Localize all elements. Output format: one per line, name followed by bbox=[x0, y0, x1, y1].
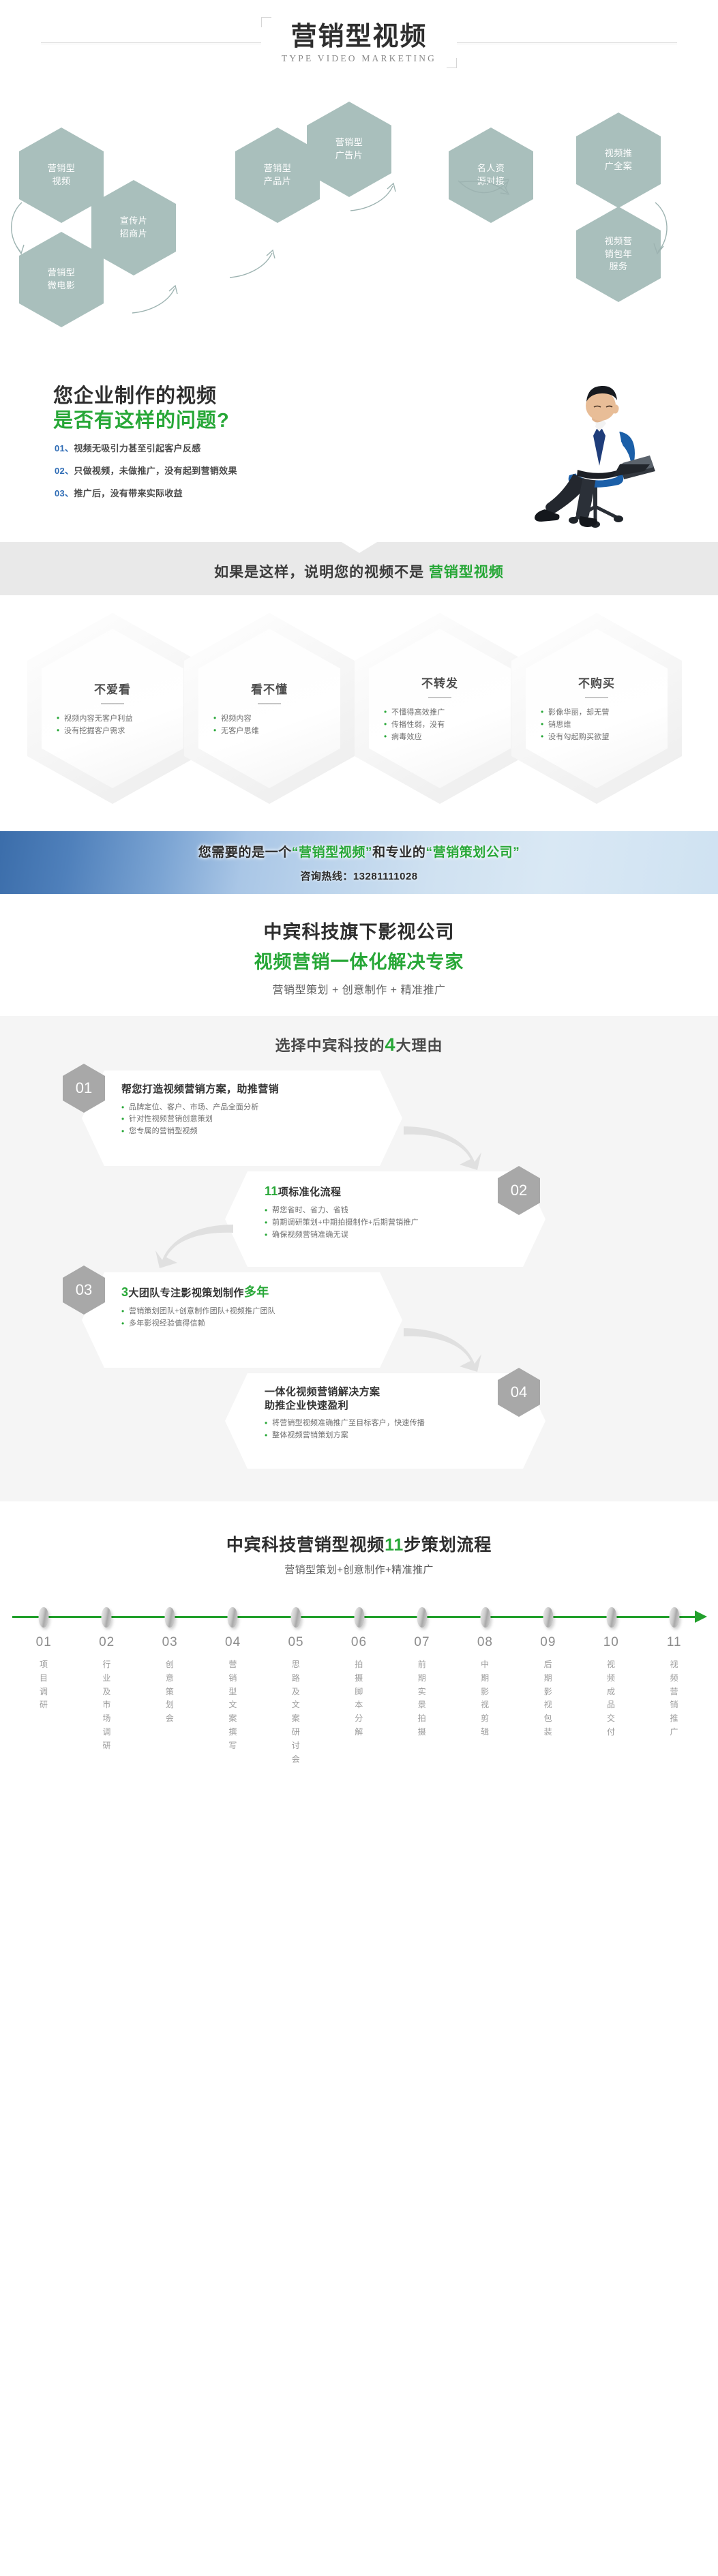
hex-service-6[interactable]: 视频推广全案 bbox=[576, 113, 661, 208]
problem-card-bullet: 无客户思维 bbox=[213, 725, 259, 737]
step-number: 09 bbox=[517, 1635, 580, 1650]
reason-title-text: 帮您打造视频营销方案，助推营销 bbox=[121, 1083, 279, 1095]
reason-row-03: 3大团队专注影视策划制作多年 营销策划团队+创意制作团队+视频推广团队 多年影视… bbox=[0, 1272, 718, 1373]
reason-title-number: 11 bbox=[265, 1184, 278, 1198]
timeline-step-06[interactable]: 06 拍摄脚本分解 bbox=[327, 1635, 390, 1766]
problem-card-bullet: 不懂得高效推广 bbox=[384, 706, 445, 719]
step-number: 07 bbox=[391, 1635, 453, 1650]
hex-line: 广告片 bbox=[335, 149, 363, 162]
marketing-landing-page: 营销型视频 TYPE VIDEO MARKETING 营销型视频 宣传片招商片 … bbox=[0, 0, 718, 1789]
step-number: 03 bbox=[138, 1635, 201, 1650]
step-label: 创意策划会 bbox=[138, 1658, 201, 1726]
problem-card-bullet: 影像华丽，却无营 bbox=[541, 706, 610, 719]
problem-list-item: 03、推广后，没有带来实际收益 bbox=[55, 486, 237, 499]
hex-line: 销包年 bbox=[605, 248, 633, 261]
hex-line: 营销型 bbox=[335, 136, 363, 149]
problem-card-title: 不购买 bbox=[578, 674, 615, 691]
reason-bullet: 营销策划团队+创意制作团队+视频推广团队 bbox=[121, 1306, 363, 1318]
problem-item-text: 推广后，没有带来实际收益 bbox=[74, 488, 183, 498]
problem-card-2[interactable]: 不转发 不懂得高效推广 传播性弱，没有 病毒效应 bbox=[355, 613, 525, 804]
company-headline-section: 中宾科技旗下影视公司 视频营销一体化解决专家 营销型策划 + 创意制作 + 精准… bbox=[0, 894, 718, 1016]
timeline-node bbox=[164, 1607, 175, 1628]
problem-card-title: 看不懂 bbox=[251, 680, 288, 697]
company-services-line: 营销型策划 + 创意制作 + 精准推广 bbox=[0, 980, 718, 997]
cta-blue-banner: 您需要的是一个“营销型视频”和专业的“营销策划公司” 咨询热线：13281111… bbox=[0, 831, 718, 894]
flow-arrow-icon bbox=[130, 283, 184, 317]
hex-line: 视频推 bbox=[605, 147, 633, 160]
timeline-node bbox=[543, 1607, 554, 1628]
cta-text-a: 您需要的是一个 bbox=[198, 845, 292, 860]
timeline-step-05[interactable]: 05 思路及文案研讨会 bbox=[265, 1635, 327, 1766]
reason-card-03[interactable]: 3大团队专注影视策划制作多年 营销策划团队+创意制作团队+视频推广团队 多年影视… bbox=[82, 1272, 402, 1368]
problem-heading-line2: 是否有这样的问题? bbox=[53, 404, 230, 433]
title-underline bbox=[585, 697, 608, 698]
header-title-box: 营销型视频 TYPE VIDEO MARKETING bbox=[261, 17, 457, 68]
reasons-title: 选择中宾科技的4大理由 bbox=[0, 1034, 718, 1055]
hex-line: 营销型 bbox=[48, 267, 76, 280]
problem-card-1[interactable]: 看不懂 视频内容 无客户思维 bbox=[184, 613, 355, 804]
step-label: 前期实景拍摄 bbox=[391, 1658, 453, 1739]
timeline-step-07[interactable]: 07 前期实景拍摄 bbox=[391, 1635, 453, 1766]
service-hex-grid: 营销型视频 宣传片招商片 营销型微电影 营销型产品片 营销型广告片 名人资源对接… bbox=[0, 85, 718, 365]
timeline-steps: 01 项目调研 02 行业及市场调研 03 创意策划会 04 营销型文案撰写 0… bbox=[12, 1635, 706, 1766]
step-number: 05 bbox=[265, 1635, 327, 1650]
reason-curve-arrow-icon bbox=[154, 1220, 236, 1271]
step-number: 11 bbox=[643, 1635, 706, 1650]
reason-bullet: 确保视频营销准确无误 bbox=[265, 1229, 506, 1242]
step-number: 08 bbox=[453, 1635, 516, 1650]
step-label: 项目调研 bbox=[12, 1658, 75, 1712]
cta-highlight-video: “营销型视频” bbox=[292, 845, 372, 860]
hex-service-7[interactable]: 视频营销包年服务 bbox=[576, 207, 661, 302]
reason-row-04: 一体化视频营销解决方案 助推企业快速盈利 将营销型视频准确推广至目标客户，快速传… bbox=[0, 1373, 718, 1474]
grey-banner-prefix: 如果是这样，说明您的视频不是 bbox=[214, 565, 429, 580]
hex-service-1[interactable]: 宣传片招商片 bbox=[91, 180, 176, 275]
reason-row-02: 11项标准化流程 帮您省时、省力、省钱 前期调研策划+中期拍摄制作+后期营销推广… bbox=[0, 1171, 718, 1272]
reason-card-title: 一体化视频营销解决方案 助推企业快速盈利 bbox=[265, 1386, 506, 1412]
timeline-step-03[interactable]: 03 创意策划会 bbox=[138, 1635, 201, 1766]
timeline-node bbox=[38, 1607, 48, 1628]
reason-bullet: 您专属的营销型视频 bbox=[121, 1126, 363, 1138]
reason-title-suffix: 多年 bbox=[244, 1285, 269, 1299]
page-header: 营销型视频 TYPE VIDEO MARKETING bbox=[0, 0, 718, 85]
timeline-step-04[interactable]: 04 营销型文案撰写 bbox=[201, 1635, 264, 1766]
hex-line: 宣传片 bbox=[120, 215, 148, 228]
title-underline bbox=[258, 703, 281, 704]
step-label: 营销型文案撰写 bbox=[201, 1658, 264, 1753]
hex-service-5[interactable]: 名人资源对接 bbox=[449, 128, 533, 223]
problem-card-bullet: 视频内容无客户利益 bbox=[57, 713, 133, 725]
timeline-title-number: 11 bbox=[385, 1536, 404, 1555]
step-number: 02 bbox=[75, 1635, 138, 1650]
timeline-node bbox=[670, 1607, 680, 1628]
problem-item-number: 01、 bbox=[55, 443, 74, 453]
step-number: 06 bbox=[327, 1635, 390, 1650]
problem-card-0[interactable]: 不爱看 视频内容无客户利益 没有挖掘客户需求 bbox=[27, 613, 198, 804]
reason-curve-arrow-icon bbox=[401, 1324, 483, 1375]
reason-card-04[interactable]: 一体化视频营销解决方案 助推企业快速盈利 将营销型视频准确推广至目标客户，快速传… bbox=[225, 1373, 545, 1469]
problem-card-title: 不转发 bbox=[421, 674, 458, 691]
problem-card-3[interactable]: 不购买 影像华丽，却无营 销思维 没有勾起购买欲望 bbox=[511, 613, 682, 804]
cta-highlight-company: “营销策划公司” bbox=[426, 845, 520, 860]
hex-line: 广全案 bbox=[605, 160, 633, 173]
cta-hotline[interactable]: 咨询热线：13281111028 bbox=[300, 869, 417, 883]
hex-line: 产品片 bbox=[264, 175, 292, 188]
timeline-axis bbox=[12, 1605, 706, 1628]
company-name-line: 中宾科技旗下影视公司 bbox=[0, 917, 718, 944]
step-label: 行业及市场调研 bbox=[75, 1658, 138, 1753]
timeline-step-01[interactable]: 01 项目调研 bbox=[12, 1635, 75, 1766]
page-subtitle-en: TYPE VIDEO MARKETING bbox=[282, 53, 436, 64]
problem-item-number: 02、 bbox=[55, 466, 74, 476]
cta-banner-line1: 您需要的是一个“营销型视频”和专业的“营销策划公司” bbox=[198, 842, 520, 860]
hex-line: 微电影 bbox=[48, 280, 76, 293]
step-number: 04 bbox=[201, 1635, 264, 1650]
reasons-title-a: 选择中宾科技的 bbox=[275, 1037, 385, 1054]
reason-card-02[interactable]: 11项标准化流程 帮您省时、省力、省钱 前期调研策划+中期拍摄制作+后期营销推广… bbox=[225, 1171, 545, 1267]
timeline-arrow-icon bbox=[695, 1611, 707, 1623]
step-label: 拍摄脚本分解 bbox=[327, 1658, 390, 1739]
timeline-node bbox=[228, 1607, 238, 1628]
timeline-step-09[interactable]: 09 后期影视包装 bbox=[517, 1635, 580, 1766]
problem-item-text: 只做视频，未做推广，没有起到营销效果 bbox=[74, 466, 237, 476]
reason-card-title: 11项标准化流程 bbox=[265, 1184, 506, 1199]
grey-statement-banner: 如果是这样，说明您的视频不是 营销型视频 bbox=[0, 542, 718, 595]
problem-item-text: 视频无吸引力甚至引起客户反感 bbox=[74, 443, 200, 453]
step-label: 中期影视剪辑 bbox=[453, 1658, 516, 1739]
reason-bullet: 整体视频营销策划方案 bbox=[265, 1430, 506, 1442]
timeline-step-08[interactable]: 08 中期影视剪辑 bbox=[453, 1635, 516, 1766]
step-number: 01 bbox=[12, 1635, 75, 1650]
timeline-title-a: 中宾科技营销型视频 bbox=[226, 1536, 385, 1555]
timeline-title-b: 步策划流程 bbox=[404, 1536, 492, 1555]
grey-banner-highlight: 营销型视频 bbox=[429, 565, 504, 580]
step-number: 10 bbox=[580, 1635, 642, 1650]
title-underline bbox=[428, 697, 451, 698]
cta-text-c: 和专业的 bbox=[372, 845, 425, 860]
grey-banner-text: 如果是这样，说明您的视频不是 营销型视频 bbox=[214, 561, 504, 582]
timeline-step-11[interactable]: 11 视频营销推广 bbox=[643, 1635, 706, 1766]
hex-line: 名人资 bbox=[477, 162, 505, 175]
timeline-subtitle: 营销型策划+创意制作+精准推广 bbox=[0, 1562, 718, 1576]
timeline-title: 中宾科技营销型视频11步策划流程 bbox=[0, 1531, 718, 1556]
reason-card-title: 3大团队专注影视策划制作多年 bbox=[121, 1285, 363, 1300]
reason-bullet: 针对性视频营销创意策划 bbox=[121, 1113, 363, 1126]
step-label: 后期影视包装 bbox=[517, 1658, 580, 1739]
reasons-title-b: 大理由 bbox=[396, 1037, 443, 1054]
timeline-node bbox=[417, 1607, 428, 1628]
hex-line: 服务 bbox=[605, 260, 633, 273]
timeline-node bbox=[290, 1607, 301, 1628]
hex-line: 营销型 bbox=[48, 162, 76, 175]
reason-title-number: 3 bbox=[121, 1285, 128, 1299]
timeline-step-10[interactable]: 10 视频成品交付 bbox=[580, 1635, 642, 1766]
timeline-node bbox=[354, 1607, 364, 1628]
reason-curve-arrow-icon bbox=[401, 1122, 483, 1173]
step-label: 视频成品交付 bbox=[580, 1658, 642, 1739]
hex-line: 视频营 bbox=[605, 235, 633, 248]
timeline-node bbox=[606, 1607, 616, 1628]
timeline-node bbox=[480, 1607, 490, 1628]
reason-card-01[interactable]: 帮您打造视频营销方案，助推营销 品牌定位、客户、市场、产品全面分析 针对性视频营… bbox=[82, 1070, 402, 1166]
problem-item-number: 03、 bbox=[55, 488, 74, 498]
problem-card-bullet: 视频内容 bbox=[213, 713, 252, 725]
reason-row-01: 帮您打造视频营销方案，助推营销 品牌定位、客户、市场、产品全面分析 针对性视频营… bbox=[0, 1070, 718, 1171]
problem-card-inner: 看不懂 视频内容 无客户思维 bbox=[198, 629, 340, 788]
hex-service-0[interactable]: 营销型视频 bbox=[19, 128, 104, 223]
timeline-node bbox=[102, 1607, 112, 1628]
flow-arrow-icon bbox=[227, 248, 282, 282]
step-label: 视频营销推广 bbox=[643, 1658, 706, 1739]
problem-card-inner: 不转发 不懂得高效推广 传播性弱，没有 病毒效应 bbox=[369, 629, 511, 788]
timeline-section: 中宾科技营销型视频11步策划流程 营销型策划+创意制作+精准推广 01 项目调研 bbox=[0, 1501, 718, 1789]
problem-list-item: 01、视频无吸引力甚至引起客户反感 bbox=[55, 441, 237, 454]
company-slogan-line: 视频营销一体化解决专家 bbox=[0, 947, 718, 974]
businessman-illustration bbox=[493, 361, 698, 531]
problem-list: 01、视频无吸引力甚至引起客户反感 02、只做视频，未做推广，没有起到营销效果 … bbox=[55, 441, 237, 509]
hex-service-2[interactable]: 营销型微电影 bbox=[19, 232, 104, 327]
reason-bullet: 多年影视经验值得信赖 bbox=[121, 1318, 363, 1330]
problem-card-title: 不爱看 bbox=[94, 680, 131, 697]
problem-intro-section: 您企业制作的视频 是否有这样的问题? 01、视频无吸引力甚至引起客户反感 02、… bbox=[0, 368, 718, 524]
reasons-section: 选择中宾科技的4大理由 帮您打造视频营销方案，助推营销 品牌定位、客户、市场、产… bbox=[0, 1016, 718, 1501]
reason-bullet: 品牌定位、客户、市场、产品全面分析 bbox=[121, 1102, 363, 1114]
hex-line: 招商片 bbox=[120, 228, 148, 241]
timeline-step-02[interactable]: 02 行业及市场调研 bbox=[75, 1635, 138, 1766]
reason-bullet: 前期调研策划+中期拍摄制作+后期营销推广 bbox=[265, 1217, 506, 1229]
page-title: 营销型视频 bbox=[282, 24, 436, 51]
hex-line: 源对接 bbox=[477, 175, 505, 188]
problem-card-bullet: 没有勾起购买欲望 bbox=[541, 731, 610, 743]
problem-card-inner: 不爱看 视频内容无客户利益 没有挖掘客户需求 bbox=[42, 629, 183, 788]
hex-line: 营销型 bbox=[264, 162, 292, 175]
flow-arrow-icon bbox=[5, 200, 29, 260]
problem-card-bullet-cont: 销思维 bbox=[541, 719, 571, 731]
reason-title-text: 项标准化流程 bbox=[278, 1186, 341, 1198]
reasons-title-number: 4 bbox=[385, 1034, 395, 1055]
hex-line: 视频 bbox=[48, 175, 76, 188]
reason-card-title: 帮您打造视频营销方案，助推营销 bbox=[121, 1083, 363, 1096]
problem-card-bullet: 传播性弱，没有 bbox=[384, 719, 445, 731]
reason-bullet: 将营销型视频准确推广至目标客户，快速传播 bbox=[265, 1418, 506, 1430]
problem-cards-row: 不爱看 视频内容无客户利益 没有挖掘客户需求 看不懂 视频内容 无客户思维 不转… bbox=[0, 601, 718, 819]
problem-card-bullet-cont: 病毒效应 bbox=[384, 731, 422, 743]
problem-card-inner: 不购买 影像华丽，却无营 销思维 没有勾起购买欲望 bbox=[526, 629, 668, 788]
problem-list-item: 02、只做视频，未做推广，没有起到营销效果 bbox=[55, 464, 237, 477]
problem-card-bullet: 没有挖掘客户需求 bbox=[57, 725, 125, 737]
reason-title-text: 大团队专注影视策划制作 bbox=[128, 1287, 243, 1299]
reason-bullet: 帮您省时、省力、省钱 bbox=[265, 1205, 506, 1217]
step-label: 思路及文案研讨会 bbox=[265, 1658, 327, 1766]
title-underline bbox=[101, 703, 124, 704]
